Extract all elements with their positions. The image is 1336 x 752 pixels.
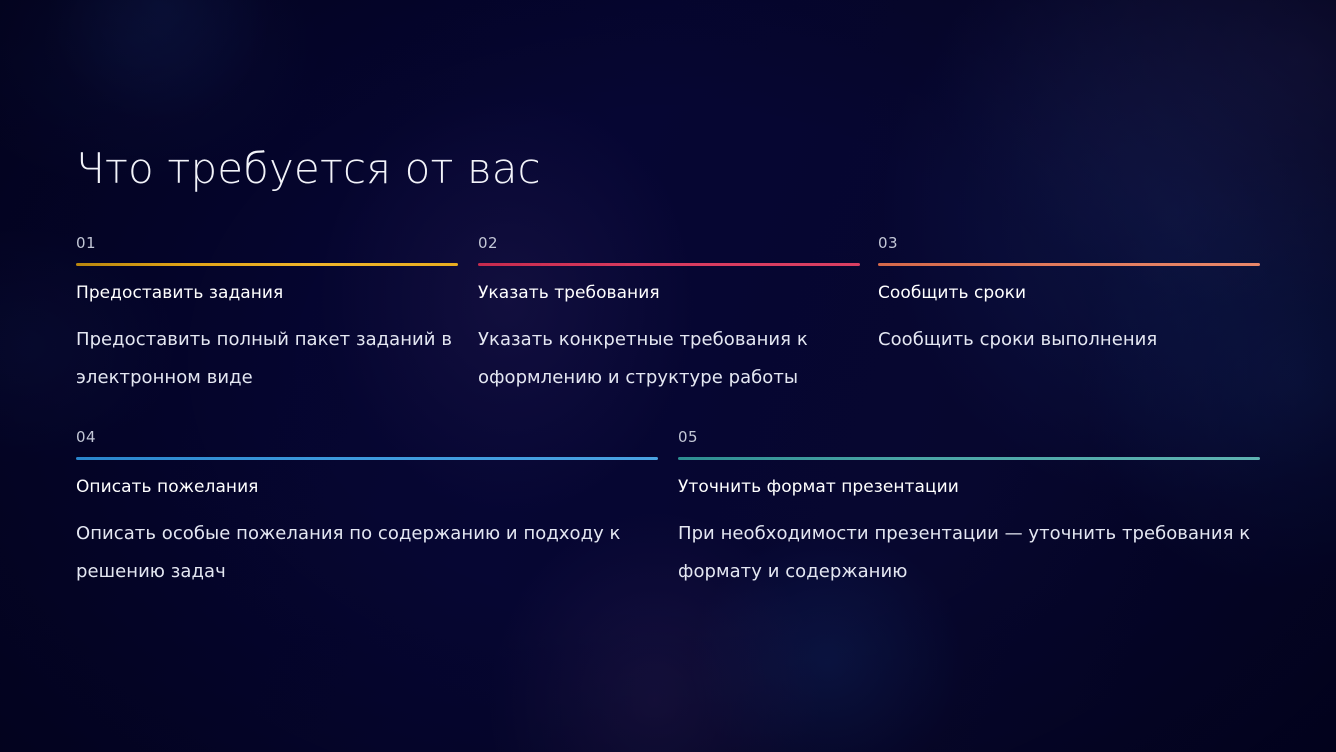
card-02: 02 Указать требования Указать конкретные… [478,236,860,397]
card-accent-rule-01 [76,263,458,266]
card-01: 01 Предоставить задания Предоставить пол… [76,236,458,397]
card-number-02: 02 [478,236,860,251]
presentation-slide: Что требуется от вас 01 Предоставить зад… [0,0,1336,752]
card-heading-04: Описать пожелания [76,477,658,498]
card-body-01: Предоставить полный пакет заданий в элек… [76,321,458,397]
card-04: 04 Описать пожелания Описать особые поже… [76,430,658,591]
card-number-03: 03 [878,236,1260,251]
card-accent-rule-04 [76,457,658,460]
card-body-05: При необходимости презентации — уточнить… [678,515,1260,591]
card-heading-05: Уточнить формат презентации [678,477,1260,498]
card-body-02: Указать конкретные требования к оформлен… [478,321,860,397]
card-05: 05 Уточнить формат презентации При необх… [678,430,1260,591]
card-heading-01: Предоставить задания [76,283,458,304]
card-number-04: 04 [76,430,658,445]
card-accent-rule-05 [678,457,1260,460]
card-number-01: 01 [76,236,458,251]
card-heading-03: Сообщить сроки [878,283,1260,304]
card-body-03: Сообщить сроки выполнения [878,321,1260,359]
card-number-05: 05 [678,430,1260,445]
slide-content: Что требуется от вас 01 Предоставить зад… [76,0,1260,752]
page-title: Что требуется от вас [76,144,541,193]
card-heading-02: Указать требования [478,283,860,304]
card-body-04: Описать особые пожелания по содержанию и… [76,515,658,591]
card-03: 03 Сообщить сроки Сообщить сроки выполне… [878,236,1260,359]
card-accent-rule-03 [878,263,1260,266]
card-accent-rule-02 [478,263,860,266]
